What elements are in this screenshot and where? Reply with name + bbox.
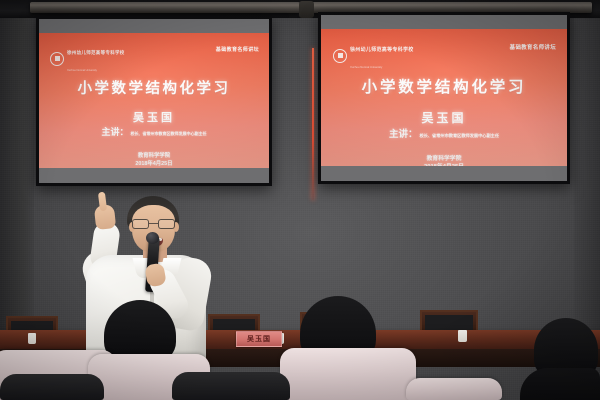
slide-footer-right: 教育科学学院 2018年4月25日 bbox=[321, 155, 567, 166]
slide-speaker-name-right: 吴玉国 bbox=[321, 109, 567, 126]
university-seal-icon bbox=[333, 49, 347, 63]
audience-shoulders-3 bbox=[520, 368, 600, 400]
lecture-hall-photo: 徐州幼儿师范高等专科学校 Xuzhou Normal University 基础… bbox=[0, 0, 600, 400]
wall-light-strip bbox=[312, 48, 314, 200]
presenter-label-right: 主讲： bbox=[389, 126, 418, 140]
screen-housing-joint bbox=[299, 1, 314, 18]
slide-left: 徐州幼儿师范高等专科学校 Xuzhou Normal University 基础… bbox=[39, 33, 269, 168]
logo-chinese-right: 徐州幼儿师范高等专科学校 bbox=[350, 47, 414, 53]
glasses-lens-left bbox=[132, 219, 149, 229]
screen-band-top-left bbox=[39, 19, 269, 33]
paper-cup-1 bbox=[28, 333, 36, 344]
presenter-label-left: 主讲： bbox=[101, 125, 128, 138]
auditorium-seat-shadow-1 bbox=[0, 374, 104, 400]
logo-chinese-left: 徐州幼儿师范高等专科学校 bbox=[67, 50, 125, 55]
screen-housing-left bbox=[30, 2, 300, 13]
glasses-icon bbox=[131, 219, 177, 229]
slide-presenter-row-left: 主讲： 校长、省常州市教育区教师发展中心副主任 bbox=[39, 125, 269, 138]
screen-band-top-right bbox=[321, 15, 567, 29]
slide-footer-org-left: 教育科学学院 bbox=[39, 153, 269, 161]
slide-logo-left: 徐州幼儿师范高等专科学校 Xuzhou Normal University bbox=[50, 42, 125, 76]
auditorium-seat-shadow-2 bbox=[172, 372, 290, 400]
slide-logo-right: 徐州幼儿师范高等专科学校 Xuzhou Normal University bbox=[333, 39, 414, 73]
screen-band-bottom-left bbox=[39, 168, 269, 183]
slide-footer-left: 教育科学学院 2018年4月25日 bbox=[39, 153, 269, 168]
paper-cup-4 bbox=[458, 330, 467, 342]
slide-banner-left: 基础教育名师讲坛 bbox=[216, 46, 259, 53]
presenter-subtitle-left: 校长、省常州市教育区教师发展中心副主任 bbox=[131, 131, 207, 138]
glasses-lens-right bbox=[158, 219, 175, 229]
audience-head-1 bbox=[104, 300, 176, 362]
auditorium-seat-4 bbox=[406, 378, 502, 400]
screen-band-bottom-right bbox=[321, 166, 567, 181]
slide-footer-org-right: 教育科学学院 bbox=[321, 155, 567, 163]
slide-presenter-row-right: 主讲： 校长、省常州市教育区教师发展中心副主任 bbox=[321, 126, 567, 140]
auditorium-seat-3 bbox=[280, 348, 416, 400]
projection-screen-left: 徐州幼儿师范高等专科学校 Xuzhou Normal University 基础… bbox=[36, 16, 272, 186]
name-plate-text: 吴玉国 bbox=[247, 334, 271, 344]
slide-speaker-name-left: 吴玉国 bbox=[39, 109, 269, 125]
presenter-subtitle-right: 校长、省常州市教育区教师发展中心副主任 bbox=[419, 133, 499, 140]
glasses-bridge bbox=[149, 223, 158, 224]
slide-right: 徐州幼儿师范高等专科学校 Xuzhou Normal University 基础… bbox=[321, 29, 567, 166]
slide-footer-date-right: 2018年4月25日 bbox=[321, 163, 567, 166]
slide-banner-right: 基础教育名师讲坛 bbox=[510, 43, 556, 51]
slide-title-left: 小学数学结构化学习 bbox=[39, 77, 269, 98]
logo-english-left: Xuzhou Normal University bbox=[67, 69, 97, 72]
projection-screen-right: 徐州幼儿师范高等专科学校 Xuzhou Normal University 基础… bbox=[318, 12, 570, 184]
logo-english-right: Xuzhou Normal University bbox=[350, 65, 382, 69]
name-plate: 吴玉国 bbox=[236, 331, 282, 347]
slide-footer-date-left: 2018年4月25日 bbox=[39, 161, 269, 168]
slide-title-right: 小学数学结构化学习 bbox=[321, 75, 567, 97]
university-seal-icon bbox=[50, 52, 64, 66]
